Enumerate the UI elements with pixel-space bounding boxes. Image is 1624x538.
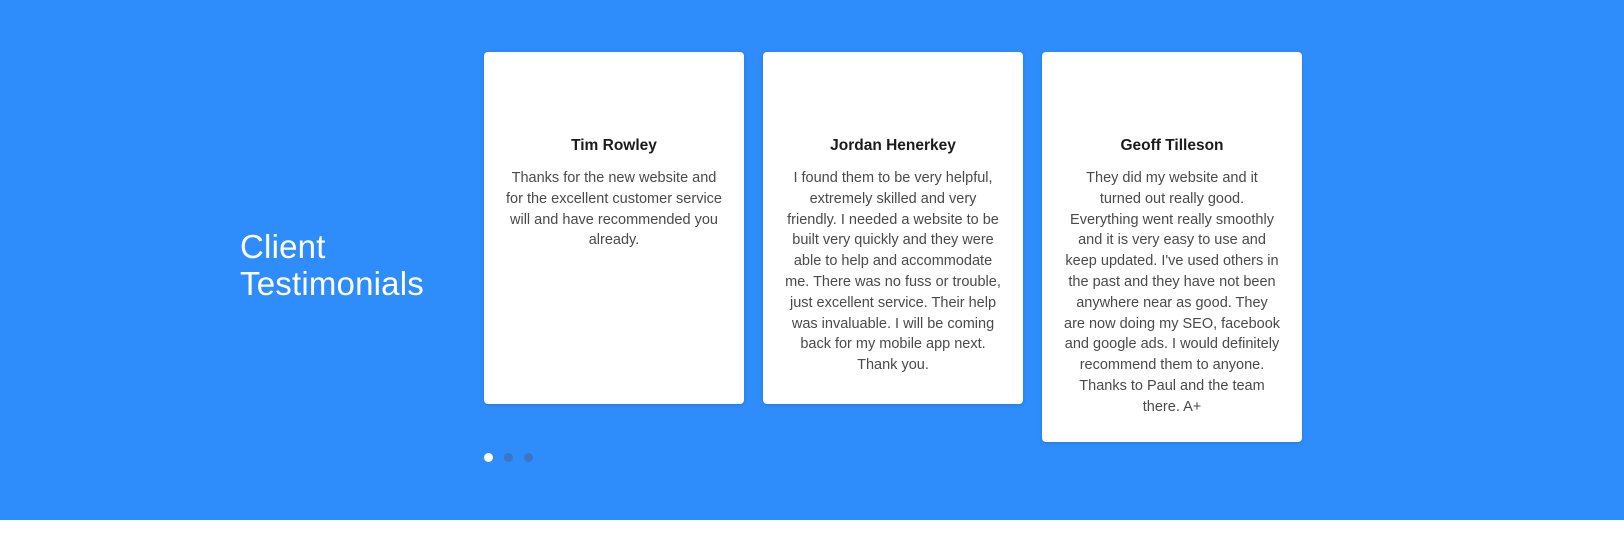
testimonial-author-name: Jordan Henerkey — [785, 136, 1001, 156]
testimonial-author-name: Geoff Tilleson — [1064, 136, 1280, 156]
section-title-line-1: Client — [240, 228, 450, 265]
testimonial-quote-text: They did my website and it turned out re… — [1064, 168, 1280, 418]
section-title: Client Testimonials — [240, 228, 450, 302]
page-footer-spacer — [0, 520, 1624, 538]
pagination-dot-1[interactable] — [484, 453, 493, 462]
testimonial-quote-text: Thanks for the new website and for the e… — [506, 168, 722, 251]
testimonial-cards-row: Tim Rowley Thanks for the new website an… — [484, 52, 1302, 442]
section-title-line-2: Testimonials — [240, 265, 450, 302]
pagination-dot-3[interactable] — [524, 453, 533, 462]
testimonial-card: Jordan Henerkey I found them to be very … — [763, 52, 1023, 404]
client-testimonials-section: Client Testimonials Tim Rowley Thanks fo… — [0, 0, 1624, 520]
testimonial-card: Tim Rowley Thanks for the new website an… — [484, 52, 744, 404]
pagination-dot-2[interactable] — [504, 453, 513, 462]
carousel-pagination — [484, 453, 533, 462]
testimonial-author-name: Tim Rowley — [506, 136, 722, 156]
testimonial-quote-text: I found them to be very helpful, extreme… — [785, 168, 1001, 376]
testimonial-card: Geoff Tilleson They did my website and i… — [1042, 52, 1302, 442]
